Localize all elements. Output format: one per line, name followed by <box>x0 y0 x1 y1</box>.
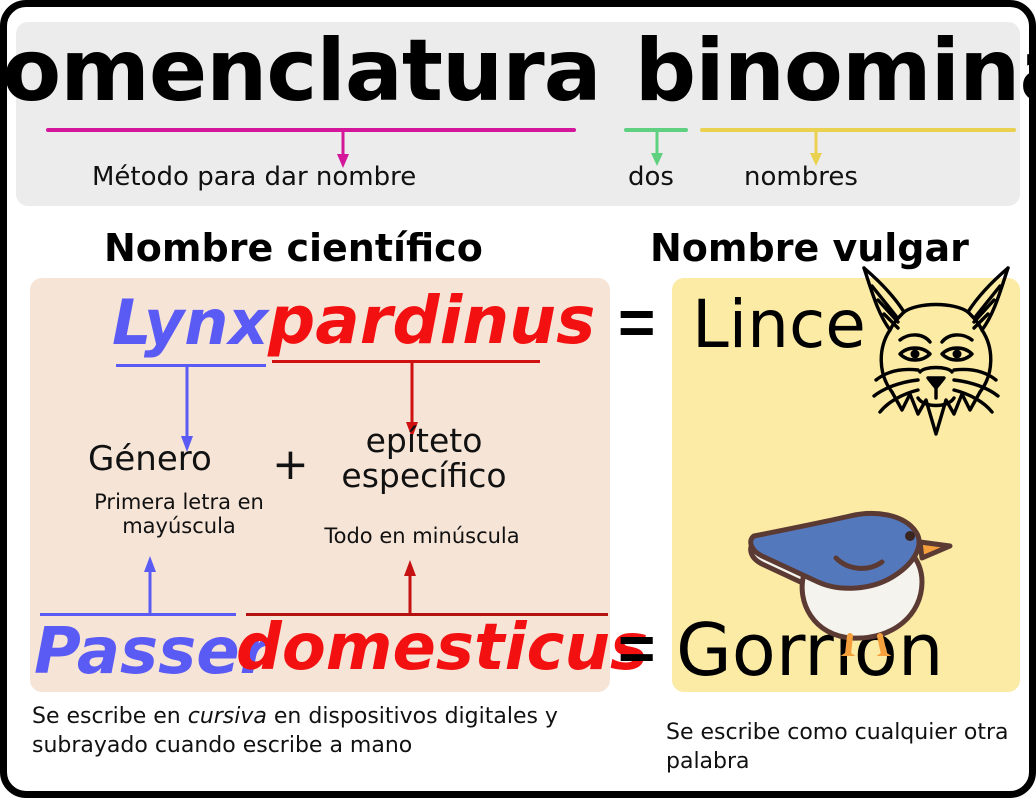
label-epiteto-especifico: epíteto específico <box>316 424 532 493</box>
footnote-left-part1: Se escribe en <box>32 704 188 729</box>
arrow-up-epithet-icon <box>398 560 422 614</box>
caption-dos: dos <box>628 162 674 192</box>
underline-nomenclatura <box>46 128 576 132</box>
label-epiteto-line1: epíteto <box>316 424 532 459</box>
infographic-canvas: Nomenclatura binominal Método para dar n… <box>0 0 1036 798</box>
caption-nombres: nombres <box>744 162 858 192</box>
footnote-vulgar: Se escribe como cualquier otra palabra <box>666 718 1026 776</box>
footnote-left-italic: cursiva <box>188 704 267 729</box>
caption-metodo: Método para dar nombre <box>92 162 416 192</box>
lynx-head-icon <box>848 262 1024 440</box>
genus-lynx: Lynx <box>112 292 268 354</box>
epithet-pardinus: pardinus <box>268 288 595 354</box>
title-word-binominal: binominal <box>635 21 1036 121</box>
label-epiteto-line2: específico <box>316 459 532 494</box>
heading-nombre-cientifico: Nombre científico <box>104 226 483 270</box>
arrow-down-nombres-icon <box>803 128 829 166</box>
label-plus: + <box>272 442 309 488</box>
common-name-lince: Lince <box>692 292 866 358</box>
bird-icon <box>744 496 974 656</box>
footnote-scientific: Se escribe en cursiva en dispositivos di… <box>32 702 632 760</box>
page-title: Nomenclatura binominal <box>16 22 1020 120</box>
arrow-down-dos-icon <box>644 128 670 166</box>
epithet-domesticus: domesticus <box>236 616 648 680</box>
equals-sign-top: = <box>618 290 655 354</box>
note-todo-en-minuscula: Todo en minúscula <box>306 524 538 548</box>
note-primera-letra-mayuscula: Primera letra en mayúscula <box>76 490 282 538</box>
arrow-up-genus-icon <box>138 556 162 614</box>
label-genero: Género <box>88 442 212 478</box>
equals-sign-bottom: = <box>618 616 655 680</box>
underline-nominal <box>700 128 1016 132</box>
title-word-nomenclatura: Nomenclatura <box>0 21 601 121</box>
